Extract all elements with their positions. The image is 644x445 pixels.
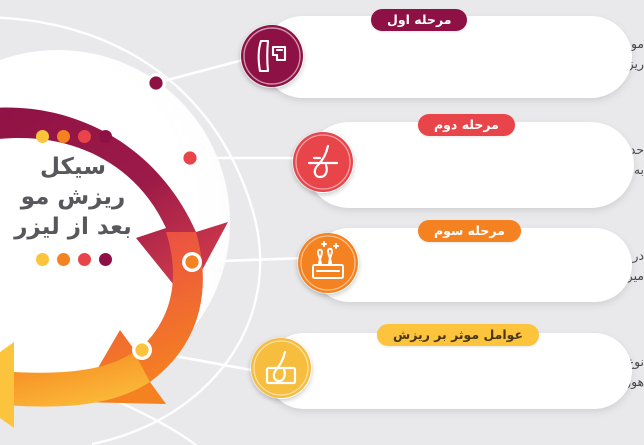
- hair-root-in-skin-glyph: [250, 337, 312, 399]
- title-line-1: سیکل: [0, 153, 146, 183]
- laser-device-on-leg-icon: [240, 24, 304, 88]
- hair-root-in-skin-icon: [250, 337, 312, 399]
- step-badge-1: مرحله اول: [371, 9, 467, 31]
- dot-red: [78, 253, 91, 266]
- dot-maroon: [99, 130, 112, 143]
- hair-follicle-glyph: [292, 131, 354, 193]
- title-line-3: بعد از لیزر: [0, 213, 146, 243]
- hair-follicle-icon: [292, 131, 354, 193]
- page-title: سیکل ریزش مو بعد از لیزر: [0, 130, 152, 266]
- decorative-dots-bottom: [0, 253, 152, 266]
- skin-with-laser-beams-glyph: [297, 232, 359, 294]
- dot-gold: [36, 130, 49, 143]
- dot-orange: [57, 130, 70, 143]
- dot-red: [78, 130, 91, 143]
- infographic-canvas: سیکل ریزش مو بعد از لیزر مرحله اول موهای…: [0, 0, 644, 445]
- title-lines: سیکل ریزش مو بعد از لیزر: [0, 153, 152, 243]
- dot-orange: [57, 253, 70, 266]
- step-badge-2: مرحله دوم: [418, 114, 515, 136]
- step-badge-3: مرحله سوم: [418, 220, 521, 242]
- title-line-2: ریزش مو: [0, 183, 146, 213]
- step-badge-4: عوامل موثر بر ریزش: [377, 324, 539, 346]
- dot-gold: [36, 253, 49, 266]
- decorative-dots-top: [0, 130, 152, 143]
- dot-maroon: [99, 253, 112, 266]
- skin-with-laser-beams-icon: [297, 232, 359, 294]
- laser-device-on-leg-glyph: [240, 24, 304, 88]
